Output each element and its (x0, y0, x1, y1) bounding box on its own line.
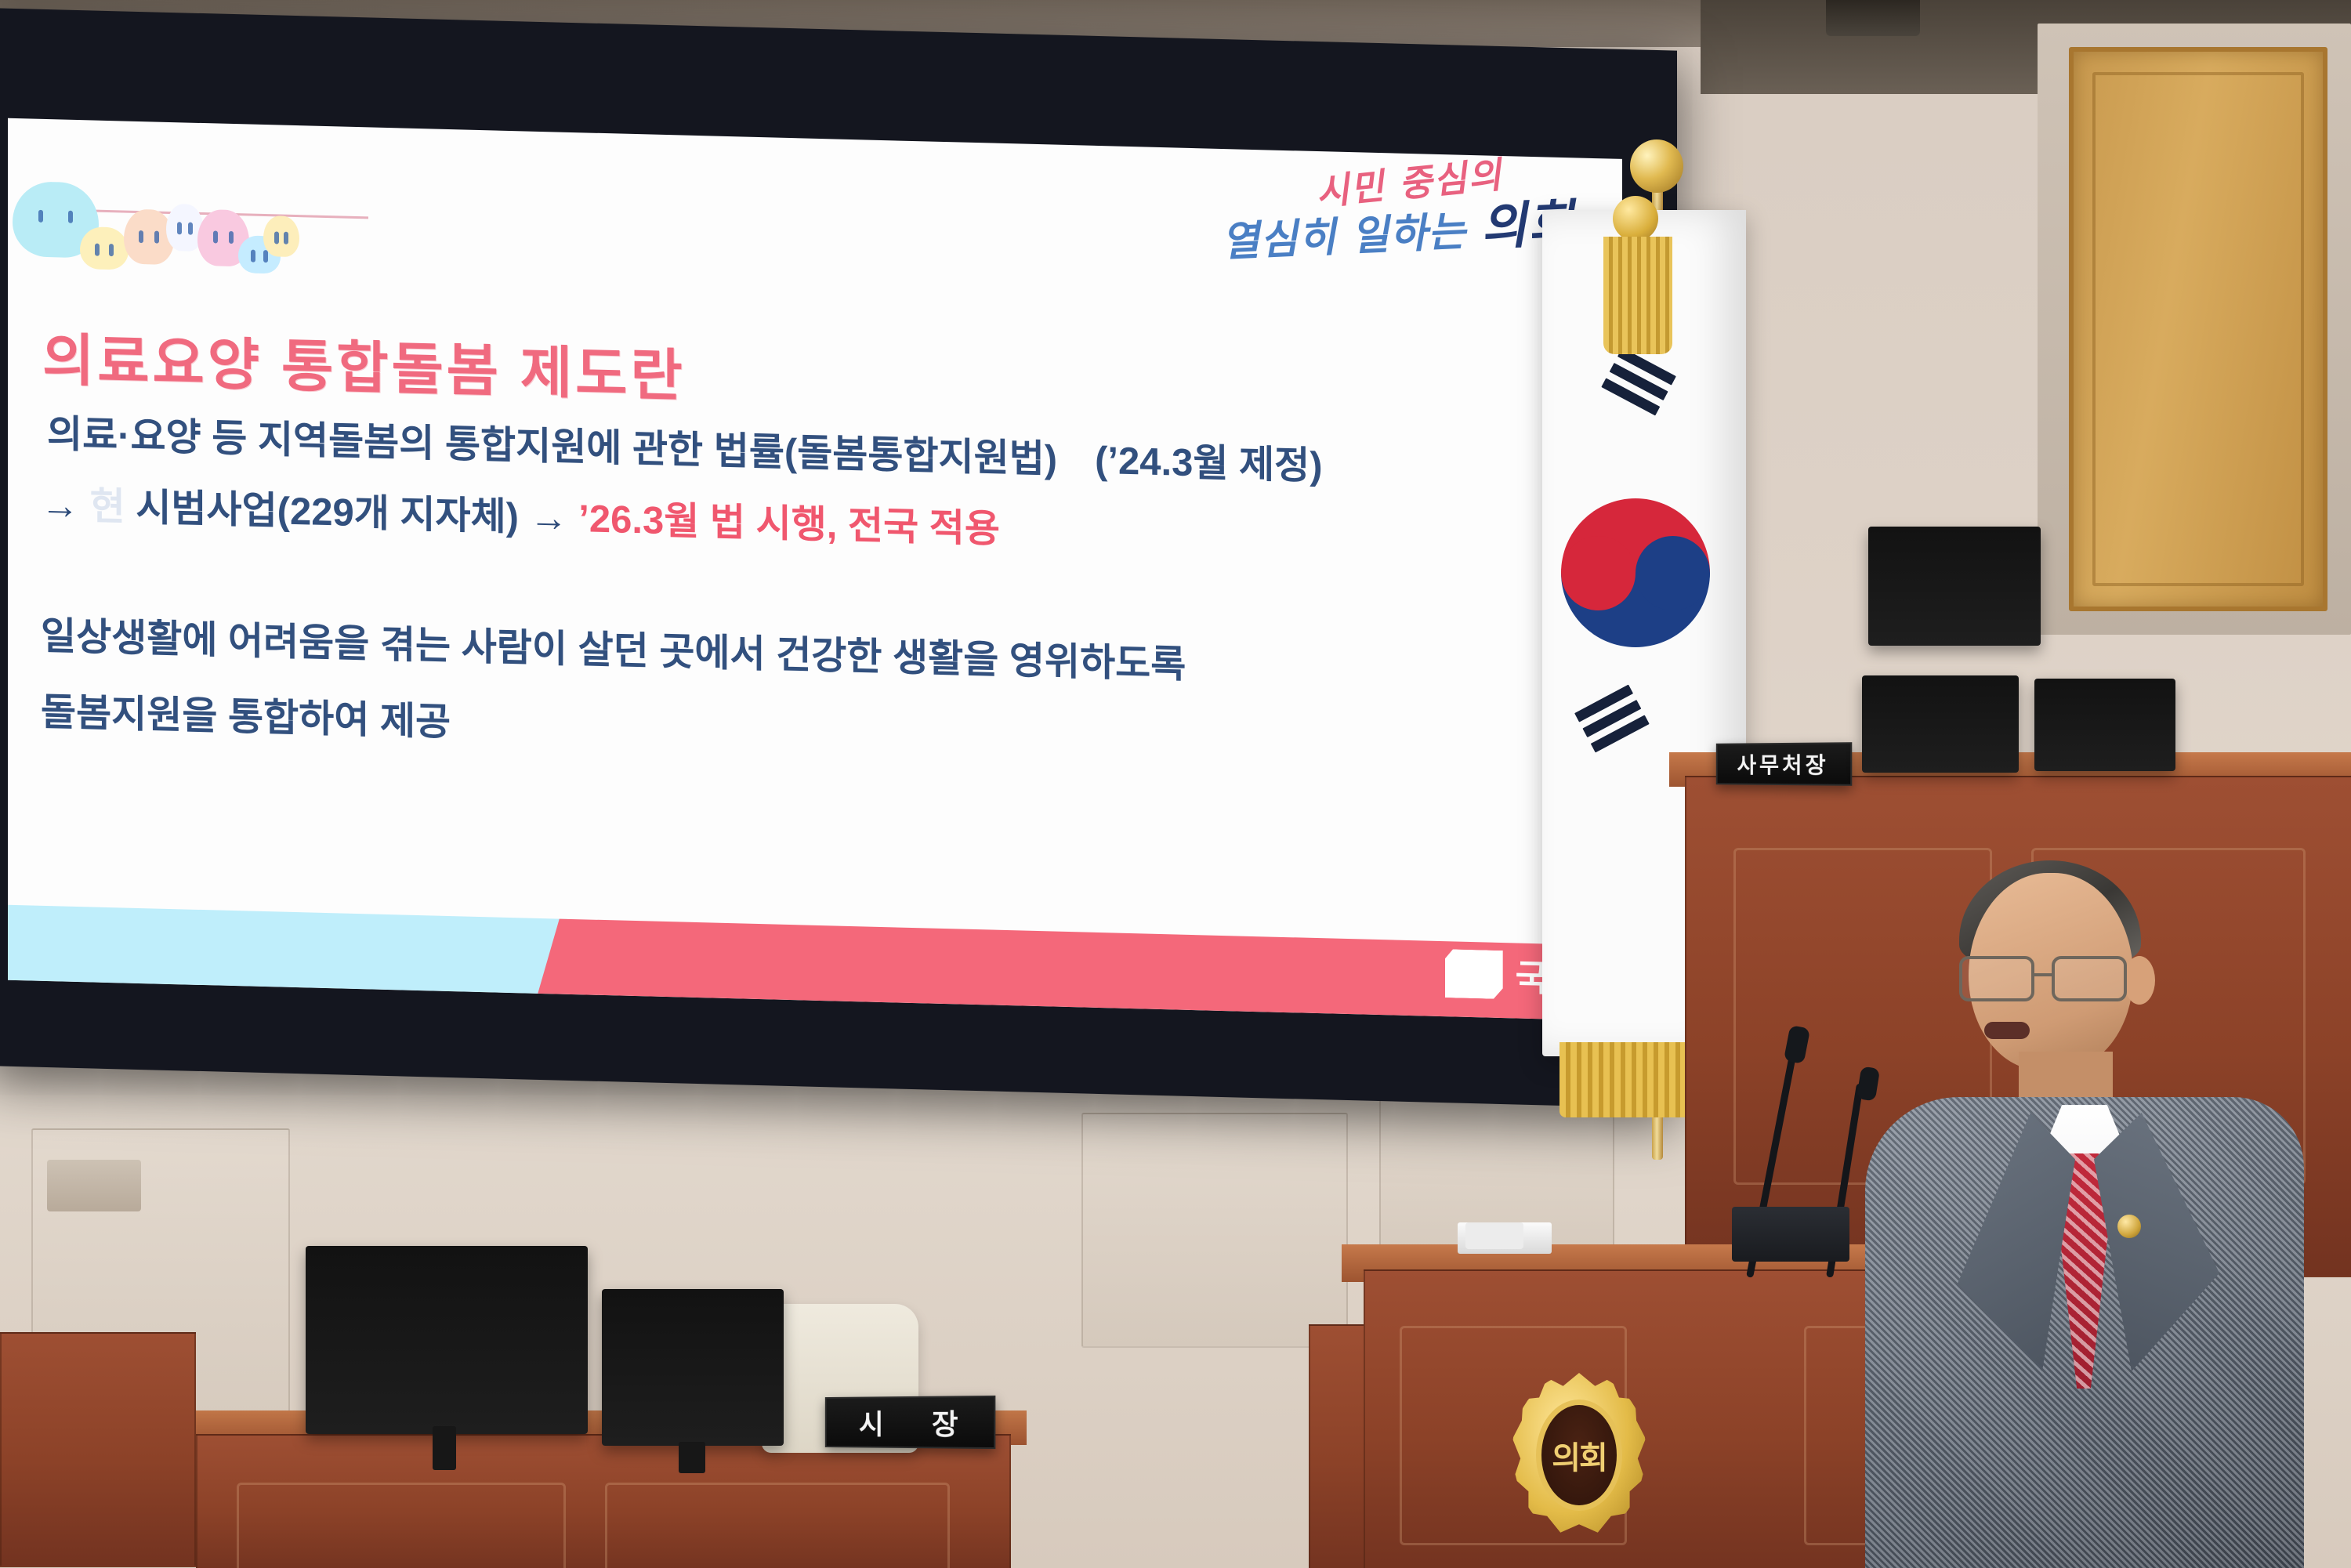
monitor-rear-1 (1868, 527, 2041, 646)
cartoon-characters-illustration (13, 164, 295, 277)
slide-body: 의료·요양 등 지역돌봄의 통합지원에 관한 법률(돌봄통합지원법)(’24.3… (33, 415, 1600, 772)
body-line-3: 일상생활에 어려움을 겪는 사람이 살던 곳에서 건강한 생활을 영위하도록 (41, 617, 1600, 695)
slide-title: 의료요양 통합돌봄 제도란 (42, 313, 686, 412)
glasses-bridge (2034, 973, 2053, 976)
body-line-1-note: (’24.3월 제정) (1095, 440, 1322, 487)
footer-band-blue (8, 904, 567, 994)
desk-sensor (1465, 1222, 1523, 1249)
slogan-line-2: 열심히 일하는 의회 (1219, 183, 1576, 271)
arrow-right-icon-2: → (530, 497, 568, 540)
arrow-right-icon: → (41, 484, 79, 527)
footer-logo: 국 (1445, 947, 1550, 1001)
emblem-text: 의회 (1552, 1432, 1607, 1478)
wall-panel (1081, 1113, 1348, 1348)
left-bench (196, 1434, 1011, 1568)
monitor-rear-3 (2034, 679, 2175, 771)
emblem-core: 의회 (1536, 1400, 1622, 1511)
body-line-2-highlight: ’26.3월 법 시행, 전국 적용 (578, 498, 1000, 551)
lapel-pin-icon (2117, 1215, 2141, 1238)
body-line-2: → 현 시범사업(229개 지자체) → ’26.3월 법 시행, 전국 적용 (41, 487, 1600, 564)
monitor-desk-1 (306, 1246, 588, 1434)
tassel-cord (1603, 237, 1672, 354)
left-side-desk (0, 1332, 196, 1567)
flag-tassel (1603, 196, 1671, 360)
speaker-mouth (1984, 1022, 2030, 1039)
projection-screen: 시민 중심의 열심히 일하는 의회 의료요양 통합돌봄 제도란 의료·요양 등 … (0, 8, 1677, 1109)
chamber-door[interactable] (2069, 47, 2327, 611)
bench-panel-inset (237, 1483, 566, 1568)
glasses-icon (1959, 956, 2155, 1003)
ceiling-light-fixture (1826, 0, 1920, 36)
monitor-rear-2 (1862, 675, 2019, 773)
tassel-knot-icon (1613, 196, 1658, 241)
body-line-1: 의료·요양 등 지역돌봄의 통합지원에 관한 법률(돌봄통합지원법)(’24.3… (47, 415, 1600, 493)
nameplate-secretary-general: 사무처장 (1716, 742, 1852, 786)
body-line-2-ghost: 현 (90, 485, 125, 528)
monitor-desk-2 (602, 1289, 784, 1446)
council-slogan-logo: 시민 중심의 열심히 일하는 의회 (1221, 146, 1581, 257)
door-inner-panel (2092, 72, 2304, 586)
wall-vent (47, 1160, 141, 1211)
monitor-desk-1-stand (433, 1426, 456, 1470)
taeguk-symbol-icon (1561, 498, 1710, 647)
monitor-desk-2-stand (679, 1442, 705, 1473)
screenshot-root: 시민 중심의 열심히 일하는 의회 의료요양 통합돌봄 제도란 의료·요양 등 … (0, 0, 2351, 1568)
slogan-line-1: 시민 중심의 (1313, 147, 1505, 216)
character-yellow-icon (80, 226, 129, 270)
body-line-1-text: 의료·요양 등 지역돌봄의 통합지원에 관한 법률(돌봄통합지원법) (47, 413, 1057, 481)
presentation-slide: 시민 중심의 열심히 일하는 의회 의료요양 통합돌봄 제도란 의료·요양 등 … (8, 118, 1622, 1021)
glasses-lens-left (1959, 956, 2034, 1001)
character-yellow2-icon (263, 215, 299, 257)
council-emblem: 의회 (1512, 1373, 1646, 1537)
flag-finial-icon (1630, 139, 1683, 193)
body-line-2-main: 시범사업(229개 지자체) (136, 487, 519, 538)
glasses-lens-right (2052, 956, 2127, 1001)
footer-mark-icon (1445, 949, 1503, 999)
bench-panel-inset (605, 1483, 950, 1568)
slogan-line-2-text: 열심히 일하는 (1220, 207, 1483, 266)
podium-control-panel[interactable] (1732, 1207, 1849, 1262)
speaker-person (1865, 846, 2304, 1568)
body-line-4: 돌봄지원을 통합하여 제공 (41, 693, 1600, 771)
trigram-bottom-left (1574, 685, 1653, 759)
nameplate-mayor: 시 장 (825, 1396, 996, 1449)
